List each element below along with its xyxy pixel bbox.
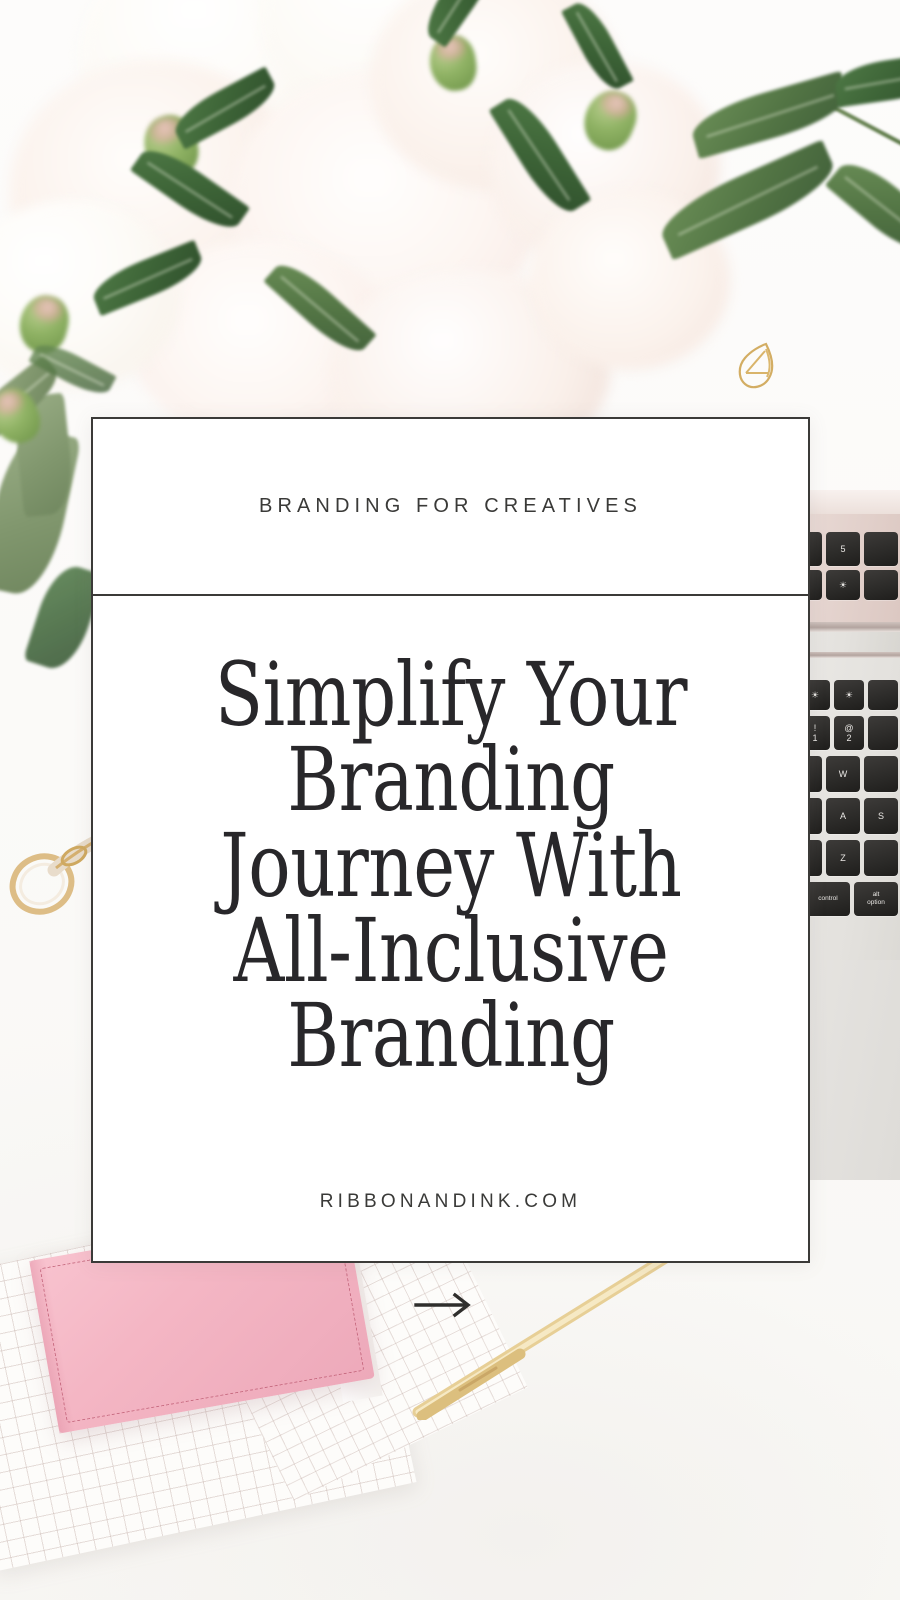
scissors-icon xyxy=(8,812,103,922)
arrow-right-icon xyxy=(414,1292,474,1318)
site-url-label: RIBBONANDINK.COM xyxy=(93,1191,808,1213)
card-body-section: Simplify Your Branding Journey With All-… xyxy=(93,596,808,1261)
gold-pen-icon xyxy=(400,1240,690,1420)
gold-paperclip-icon xyxy=(735,340,777,392)
poster-canvas: / 5 ☀ ☀ ☀ !1 @2 xyxy=(0,0,900,1600)
content-card: BRANDING FOR CREATIVES Simplify Your Bra… xyxy=(91,417,810,1263)
page-title: Simplify Your Branding Journey With All-… xyxy=(187,652,715,1079)
eyebrow-label: BRANDING FOR CREATIVES xyxy=(259,495,642,518)
card-eyebrow-section: BRANDING FOR CREATIVES xyxy=(93,419,808,596)
